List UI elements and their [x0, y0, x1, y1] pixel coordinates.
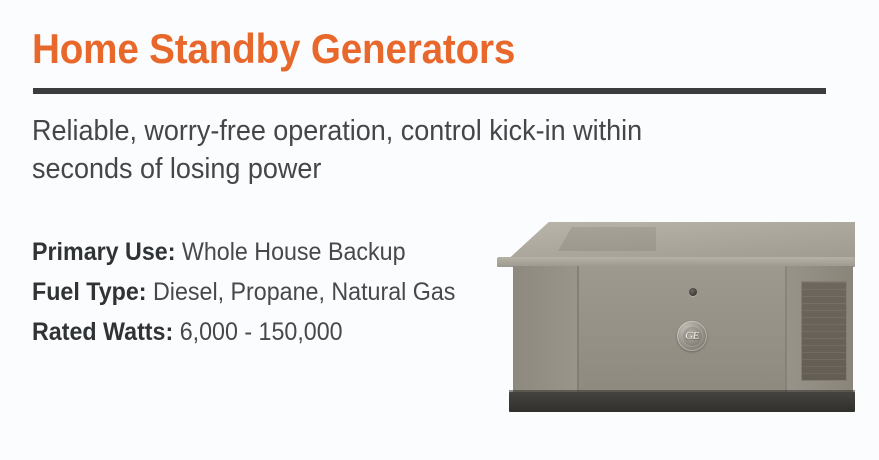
page-title: Home Standby Generators	[32, 26, 515, 72]
product-info-card: Home Standby Generators Reliable, worry-…	[0, 0, 879, 460]
generator-vent-grille	[801, 281, 847, 381]
spec-label-fuel-type: Fuel Type:	[32, 278, 147, 306]
generator-brand-badge: GE	[677, 321, 707, 351]
spec-list: Primary Use: Whole House Backup Fuel Typ…	[32, 232, 502, 352]
spec-row: Fuel Type: Diesel, Propane, Natural Gas	[32, 272, 469, 312]
generator-body: GE	[513, 266, 853, 394]
generator-left-panel	[513, 266, 577, 394]
spec-row: Primary Use: Whole House Backup	[32, 232, 469, 272]
spec-value-primary-use: Whole House Backup	[182, 238, 406, 266]
generator-door-latch-icon	[689, 288, 697, 296]
spec-row: Rated Watts: 6,000 - 150,000	[32, 312, 469, 352]
spec-value-rated-watts: 6,000 - 150,000	[180, 318, 343, 346]
spec-label-rated-watts: Rated Watts:	[32, 318, 173, 346]
generator-panel-seam-left	[577, 266, 579, 394]
generator-base	[509, 392, 855, 412]
generator-vent-louvers	[802, 282, 846, 380]
generator-product-image: GE	[497, 222, 857, 418]
title-divider	[33, 88, 826, 94]
spec-value-fuel-type: Diesel, Propane, Natural Gas	[153, 278, 455, 306]
page-subtitle: Reliable, worry-free operation, control …	[32, 112, 711, 189]
spec-label-primary-use: Primary Use:	[32, 238, 175, 266]
ge-logo-icon: GE	[682, 326, 703, 347]
generator-roof-inset-panel	[558, 227, 656, 251]
